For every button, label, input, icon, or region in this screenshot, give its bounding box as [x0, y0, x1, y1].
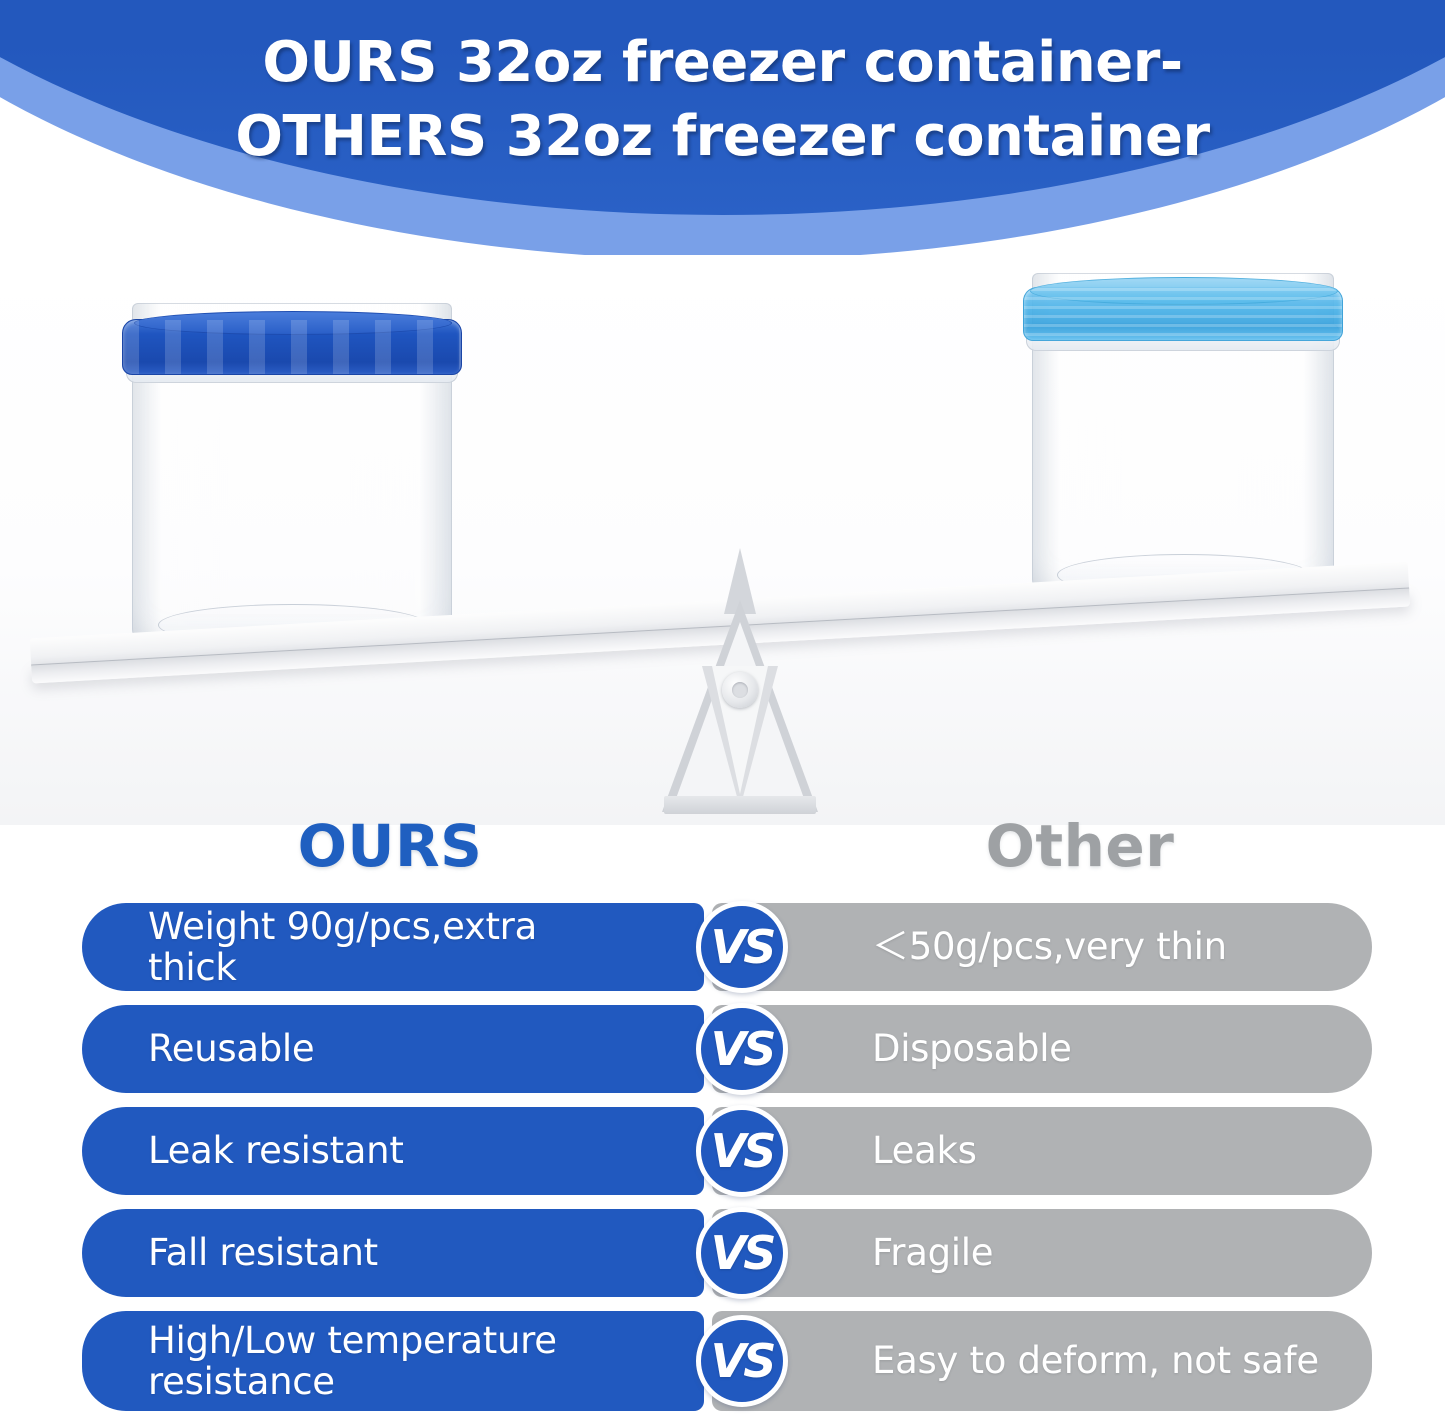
- vs-badge-icon: VS: [696, 1003, 788, 1095]
- vs-label: VS: [696, 1003, 788, 1095]
- comparison-row: Fall resistant Fragile VS: [0, 1209, 1445, 1297]
- other-feature-pill: Leaks: [712, 1107, 1372, 1195]
- ours-feature-pill: Leak resistant: [82, 1107, 704, 1195]
- other-container-image: [1032, 273, 1332, 603]
- ours-container-image: [132, 303, 450, 653]
- comparison-table: Weight 90g/pcs,extra thick ＜50g/pcs,very…: [0, 903, 1445, 1418]
- other-feature-text: Leaks: [872, 1130, 977, 1171]
- other-container-lid: [1023, 287, 1343, 341]
- ours-feature-text: Weight 90g/pcs,extra thick: [148, 906, 634, 989]
- vs-label: VS: [696, 901, 788, 993]
- ours-container-lid: [122, 319, 461, 375]
- other-feature-pill: Fragile: [712, 1209, 1372, 1297]
- vs-badge-icon: VS: [696, 1207, 788, 1299]
- vs-badge-icon: VS: [696, 901, 788, 993]
- ours-feature-pill: Weight 90g/pcs,extra thick: [82, 903, 704, 991]
- page-title: OURS 32oz freezer container- OTHERS 32oz…: [0, 26, 1445, 174]
- other-feature-text: ＜50g/pcs,very thin: [872, 926, 1227, 967]
- ours-feature-text: Fall resistant: [148, 1232, 378, 1273]
- ours-feature-text: Reusable: [148, 1028, 314, 1069]
- vs-label: VS: [696, 1105, 788, 1197]
- comparison-row: Weight 90g/pcs,extra thick ＜50g/pcs,very…: [0, 903, 1445, 991]
- other-lid-ribs: [1024, 288, 1342, 340]
- other-feature-pill: Easy to deform, not safe: [712, 1311, 1372, 1411]
- fulcrum-pivot-dot: [732, 682, 748, 698]
- fulcrum-base-bar: [664, 796, 816, 814]
- other-feature-text: Disposable: [872, 1028, 1072, 1069]
- other-feature-text: Easy to deform, not safe: [872, 1340, 1319, 1381]
- ours-lid-ribs: [123, 320, 460, 374]
- ours-feature-pill: Reusable: [82, 1005, 704, 1093]
- ours-feature-pill: Fall resistant: [82, 1209, 704, 1297]
- vs-badge-icon: VS: [696, 1315, 788, 1407]
- other-feature-text: Fragile: [872, 1232, 993, 1273]
- balance-scene: [0, 255, 1445, 825]
- comparison-row: High/Low temperature resistance Easy to …: [0, 1311, 1445, 1411]
- ours-column-heading: OURS: [130, 812, 650, 880]
- other-feature-pill: ＜50g/pcs,very thin: [712, 903, 1372, 991]
- ours-feature-text: High/Low temperature resistance: [148, 1320, 634, 1403]
- vs-label: VS: [696, 1207, 788, 1299]
- product-comparison-infographic: OURS 32oz freezer container- OTHERS 32oz…: [0, 0, 1445, 1418]
- vs-label: VS: [696, 1315, 788, 1407]
- balance-fulcrum: [640, 600, 840, 820]
- ours-feature-pill: High/Low temperature resistance: [82, 1311, 704, 1411]
- comparison-row: Reusable Disposable VS: [0, 1005, 1445, 1093]
- ours-feature-text: Leak resistant: [148, 1130, 404, 1171]
- other-feature-pill: Disposable: [712, 1005, 1372, 1093]
- other-column-heading: Other: [820, 812, 1340, 880]
- vs-badge-icon: VS: [696, 1105, 788, 1197]
- comparison-row: Leak resistant Leaks VS: [0, 1107, 1445, 1195]
